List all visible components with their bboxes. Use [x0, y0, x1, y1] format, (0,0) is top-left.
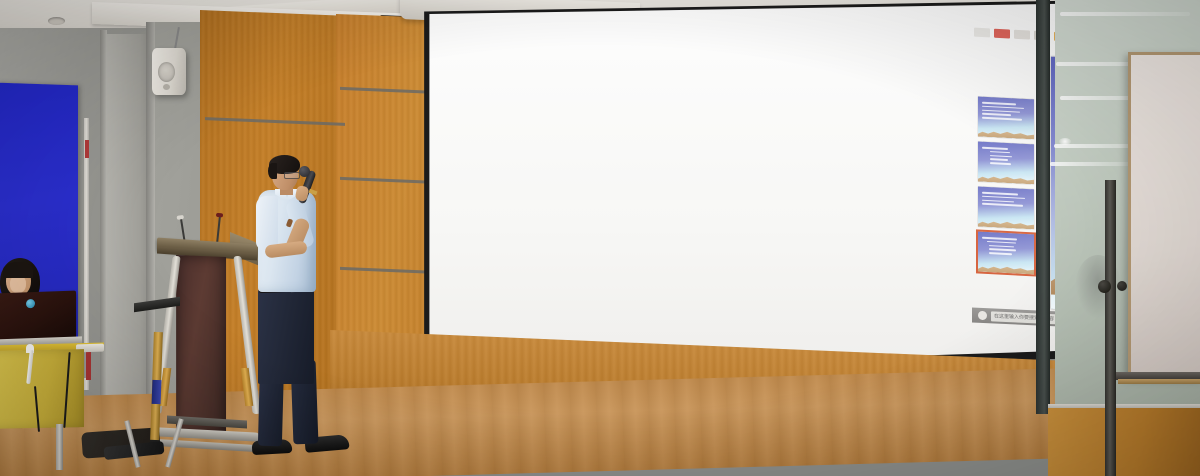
lectern-front-panel [176, 255, 226, 436]
slide-thumbnail-panel[interactable] [978, 96, 1036, 317]
laptop-logo-icon [26, 299, 35, 308]
wall-speaker [152, 48, 186, 95]
presenter-glasses [284, 172, 300, 179]
laptop-screen [0, 291, 76, 342]
presenter-hair-side [268, 163, 277, 179]
microphone-head-icon [299, 166, 310, 177]
thumb-lines [982, 147, 1030, 168]
thumb-mountain-graphic [978, 217, 1034, 229]
whiteboard-stand-pole[interactable] [1105, 180, 1116, 476]
thumb-lines [982, 237, 1030, 258]
slide-thumbnail[interactable] [978, 186, 1034, 229]
slide-thumbnail[interactable] [978, 141, 1034, 184]
slide-thumbnail[interactable] [978, 96, 1034, 139]
whiteboard-adjust-knob[interactable] [1098, 280, 1111, 293]
slide-thumbnail-current[interactable] [978, 231, 1034, 274]
thumb-mountain-graphic [978, 172, 1034, 184]
assistant-fringe [3, 262, 33, 278]
lecture-hall-photo: 三 室内环境污染治理要点 1. 室内环境污染治理程序 ★望：现场观察、了解污染情… [0, 0, 1200, 476]
start-button-icon[interactable] [978, 311, 987, 320]
whiteboard-adjust-knob[interactable] [1117, 281, 1127, 291]
ceiling-vent-icon [48, 17, 65, 25]
thumb-lines [982, 102, 1030, 123]
whiteboard [1128, 52, 1200, 378]
projection-screen: 三 室内环境污染治理要点 1. 室内环境污染治理程序 ★望：现场观察、了解污染情… [426, 2, 1104, 378]
glass-reflection-streak [1050, 162, 1130, 166]
banner-marker [86, 350, 91, 380]
microphone-head-icon [216, 213, 223, 218]
ribbon-chip-1 [974, 28, 990, 38]
thumb-lines [982, 192, 1030, 210]
speaker-tweeter-icon [163, 84, 170, 90]
control-desk-front [0, 349, 84, 429]
stand-pole-accent [152, 380, 162, 404]
glass-light-glint [1059, 138, 1071, 145]
glass-reflection-streak [1060, 12, 1190, 16]
lower-wood-panel-right [1048, 408, 1200, 476]
presenter-trousers [258, 288, 314, 384]
thumb-mountain-graphic [978, 262, 1034, 274]
speaker-cone-icon [158, 62, 175, 82]
ribbon-chip-2 [994, 29, 1010, 39]
whiteboard-tray-lip [1118, 379, 1200, 384]
banner-marker [85, 140, 89, 158]
ribbon-chip-3 [1014, 30, 1030, 40]
desk-leg [56, 424, 63, 470]
presenter-sleeve [256, 196, 278, 250]
thumb-mountain-graphic [978, 127, 1034, 139]
glass-frame [1036, 0, 1050, 414]
